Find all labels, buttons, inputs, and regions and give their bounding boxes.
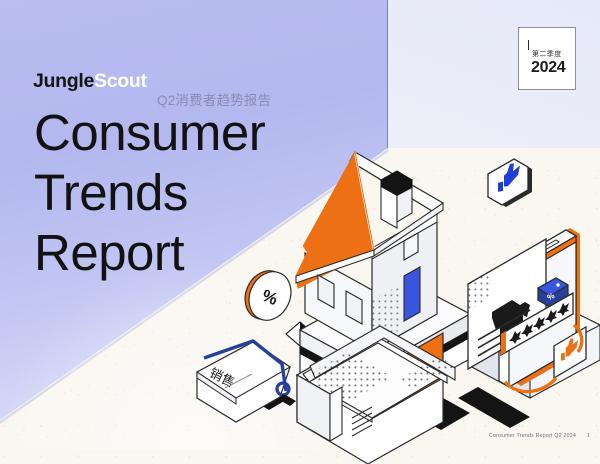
report-cover-page: % (0, 0, 600, 464)
badge-quarter-label: 第二季度 (532, 49, 562, 59)
brand-logo: JungleScout (33, 70, 147, 93)
page-title: Consumer Trends Report (34, 103, 364, 283)
quarter-badge: 第二季度 2024 (518, 27, 576, 90)
page-title-line-3: Report (34, 223, 364, 283)
sale-tag: 销售 (197, 341, 296, 422)
badge-year: 2024 (531, 59, 565, 77)
badge-tick-mark (528, 40, 529, 50)
footer-page-number: 1 (587, 433, 590, 439)
brand-logo-primary: Jungle (33, 70, 94, 92)
brand-logo-secondary: Scout (94, 70, 147, 92)
page-title-line-2: Trends (34, 163, 364, 223)
page-title-line-1: Consumer (34, 103, 364, 163)
page-footer: Consumer Trends Report Q2 20241 (489, 433, 590, 439)
thumbs-up-card (488, 158, 532, 207)
footer-document-title: Consumer Trends Report Q2 2024 (489, 433, 576, 439)
